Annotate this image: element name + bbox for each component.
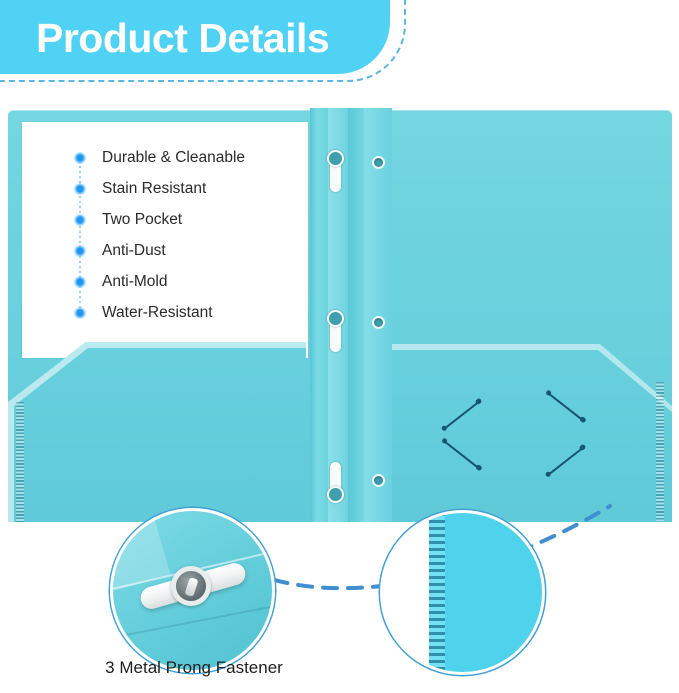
feature-list: Durable & Cleanable Stain Resistant Two … [74, 142, 304, 328]
closeup-seam-texture [429, 513, 445, 672]
closeup-fold-line [110, 600, 275, 640]
card-slit [548, 447, 584, 475]
card-slit [444, 440, 480, 468]
spine-slab [310, 108, 328, 522]
punch-hole [372, 156, 385, 169]
card-slit [548, 392, 584, 420]
product-detail-image: Product Details [0, 0, 679, 693]
business-card-slits [440, 378, 620, 474]
card-slit [444, 401, 480, 429]
header-banner: Product Details [0, 0, 430, 96]
bullet-dot-icon [74, 245, 86, 257]
feature-item: Durable & Cleanable [74, 142, 304, 173]
spine-slab [348, 108, 364, 522]
spine-slab [364, 108, 392, 522]
punch-hole [372, 316, 385, 329]
bullet-dot-icon [74, 152, 86, 164]
folder-spine [308, 110, 392, 522]
prong-fastener-head [327, 310, 344, 327]
feature-label: Anti-Mold [102, 273, 167, 291]
callout-seam-closeup [380, 510, 545, 675]
feature-item: Anti-Dust [74, 235, 304, 266]
feature-item: Anti-Mold [74, 266, 304, 297]
feature-label: Anti-Dust [102, 242, 166, 260]
bullet-dot-icon [74, 276, 86, 288]
prong-fastener-head [327, 150, 344, 167]
feature-item: Water-Resistant [74, 297, 304, 328]
prong-fastener-head [327, 486, 344, 503]
feature-label: Two Pocket [102, 211, 182, 229]
punch-hole [372, 474, 385, 487]
page-title: Product Details [36, 14, 329, 62]
left-seam-texture [16, 402, 24, 522]
bullet-dot-icon [74, 214, 86, 226]
feature-item: Two Pocket [74, 204, 304, 235]
right-seam-texture [656, 382, 664, 522]
feature-label: Stain Resistant [102, 180, 206, 198]
closeup-panel-surface [429, 513, 542, 672]
bullet-dot-icon [74, 307, 86, 319]
feature-item: Stain Resistant [74, 173, 304, 204]
closeup-bevel [110, 508, 171, 592]
metal-prong-ring-icon [171, 566, 211, 606]
feature-label: Durable & Cleanable [102, 149, 245, 167]
bullet-dot-icon [74, 183, 86, 195]
feature-label: Water-Resistant [102, 304, 213, 322]
callout-prong-closeup [110, 508, 275, 673]
callout-caption: 3 Metal Prong Fastener [64, 658, 324, 678]
